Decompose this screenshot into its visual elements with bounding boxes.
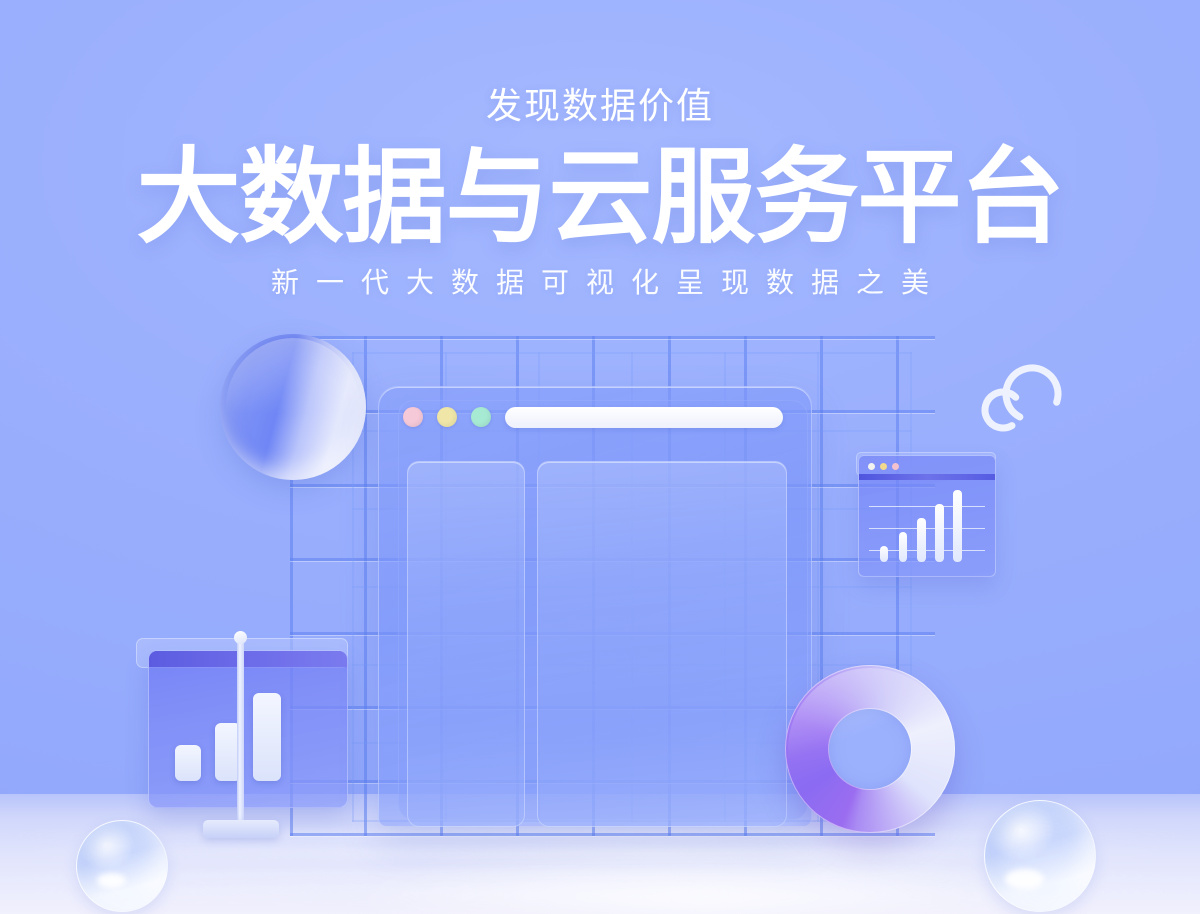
chart-gridline bbox=[869, 528, 985, 529]
glass-ball-left bbox=[76, 820, 168, 912]
traffic-dot-pink-icon[interactable] bbox=[892, 463, 899, 470]
hero-banner: 发现数据价值 大数据与云服务平台 新一代大数据可视化呈现数据之美 bbox=[0, 0, 1200, 914]
bar-chart-card bbox=[148, 650, 348, 808]
content-pane[interactable] bbox=[537, 461, 787, 827]
search-input[interactable] bbox=[505, 407, 783, 428]
traffic-dot-yellow-icon[interactable] bbox=[880, 463, 887, 470]
traffic-dot-yellow-icon[interactable] bbox=[437, 407, 457, 427]
stand-base bbox=[203, 820, 279, 838]
traffic-dot-green-icon[interactable] bbox=[471, 407, 491, 427]
window-titlebar bbox=[379, 387, 811, 447]
chart-window-header-bar bbox=[859, 474, 995, 480]
glass-browser-window[interactable] bbox=[378, 386, 812, 826]
chart-bar-1 bbox=[880, 546, 888, 562]
bar-1 bbox=[175, 745, 201, 781]
subtitle-text: 新一代大数据可视化呈现数据之美 bbox=[0, 261, 1200, 301]
torus-ring bbox=[785, 665, 955, 833]
eyebrow-text: 发现数据价值 bbox=[0, 84, 1200, 127]
bar-3 bbox=[253, 693, 281, 781]
cloud-outline-icon bbox=[975, 362, 1070, 437]
chart-gridline bbox=[869, 506, 985, 507]
stand-pole bbox=[237, 636, 244, 826]
traffic-dot-red-icon[interactable] bbox=[403, 407, 423, 427]
page-title: 大数据与云服务平台 bbox=[0, 145, 1200, 251]
glass-ball-right bbox=[984, 800, 1096, 912]
chart-bar-2 bbox=[899, 532, 907, 562]
gradient-sphere bbox=[220, 334, 366, 480]
hero-copy: 发现数据价值 大数据与云服务平台 新一代大数据可视化呈现数据之美 bbox=[0, 84, 1200, 301]
chart-bar-4 bbox=[935, 504, 944, 562]
chart-bar-3 bbox=[917, 518, 926, 562]
stand-knob bbox=[234, 631, 247, 644]
sidebar-pane[interactable] bbox=[407, 461, 525, 827]
chart-bar-5 bbox=[953, 490, 962, 562]
card-header-bar bbox=[149, 651, 347, 667]
browser-chart-window[interactable] bbox=[858, 455, 996, 577]
traffic-dot-white-icon[interactable] bbox=[868, 463, 875, 470]
